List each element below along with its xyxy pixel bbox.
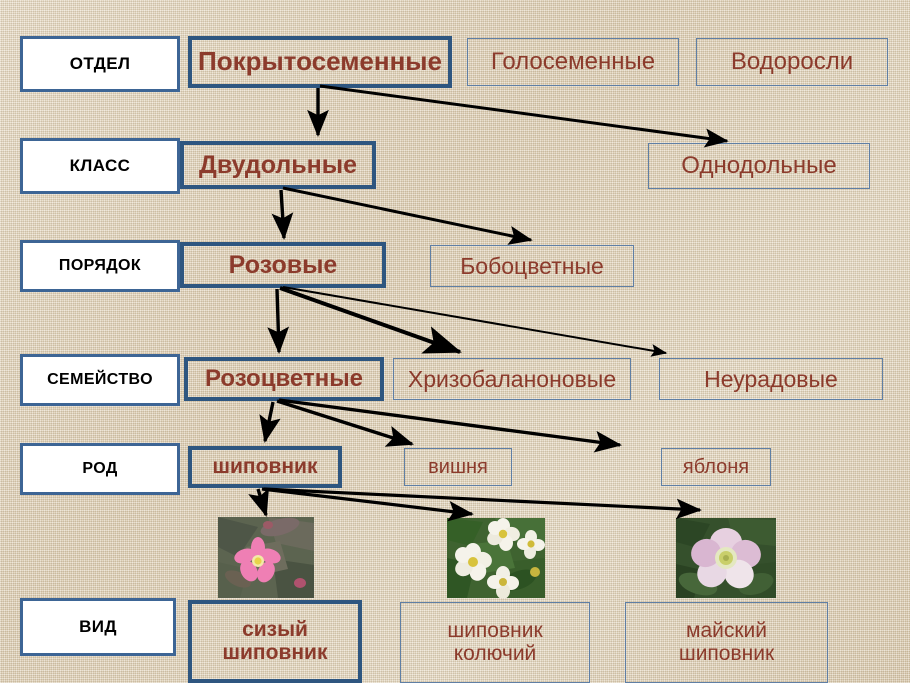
rank-label-text: КЛАСС: [70, 156, 131, 176]
arrow-shipovnik-to-kolyuchiy: [262, 489, 472, 514]
arrow-rozovye-to-rozocvetnye: [277, 289, 279, 352]
taxon-label: яблоня: [683, 457, 749, 478]
taxon-yablonya[interactable]: яблоня: [661, 448, 771, 486]
taxonomy-diagram: ОТДЕЛ КЛАСС ПОРЯДОК СЕМЕЙСТВО РОД ВИД По…: [0, 0, 910, 683]
photo-shipovnik-kolyuchiy: [447, 518, 545, 598]
taxon-label: Бобоцветные: [460, 254, 604, 278]
arrow-shipovnik-to-sizyy: [258, 489, 266, 515]
photo-image: [218, 517, 314, 598]
photo-sizyy-shipovnik: [218, 517, 314, 598]
rank-label-text: РОД: [82, 460, 117, 478]
taxon-pokrytosemennye[interactable]: Покрытосеменные: [188, 36, 452, 88]
taxon-odnodolnye[interactable]: Однодольные: [648, 143, 870, 189]
taxon-golosemennye[interactable]: Голосеменные: [467, 38, 679, 86]
taxon-label: Неурадовые: [704, 367, 838, 391]
taxon-label: Хризобаланоновые: [408, 367, 616, 391]
arrow-shipovnik-to-mayskiy: [264, 489, 700, 510]
arrow-rozocvetnye-to-yablonya: [279, 400, 620, 445]
rank-label-semeystvo: СЕМЕЙСТВО: [20, 354, 180, 406]
taxon-label: Голосеменные: [491, 49, 655, 74]
rank-label-rod: РОД: [20, 443, 180, 495]
arrow-rozocvetnye-to-vishnya: [277, 401, 412, 444]
arrow-rozocvetnye-to-shipovnik: [265, 402, 273, 441]
taxon-label: Водоросли: [731, 49, 853, 74]
taxon-neuradovye[interactable]: Неурадовые: [659, 358, 883, 400]
rank-label-text: СЕМЕЙСТВО: [47, 371, 153, 389]
taxon-label-line1: майский: [686, 620, 767, 642]
taxon-label: вишня: [428, 457, 488, 478]
taxon-label: Однодольные: [681, 153, 836, 178]
taxon-rozocvetnye[interactable]: Розоцветные: [184, 357, 384, 401]
arrow-dvudolnye-to-bobocvetnye: [283, 188, 531, 240]
taxon-shipovnik[interactable]: шиповник: [188, 446, 342, 488]
photo-image: [676, 518, 776, 598]
taxon-label-line1: сизый: [242, 619, 308, 641]
taxon-rozovye[interactable]: Розовые: [180, 242, 386, 288]
taxon-dvudolnye[interactable]: Двудольные: [180, 141, 376, 189]
taxon-label: Двудольные: [199, 152, 357, 178]
taxon-label: Розовые: [229, 252, 338, 278]
taxon-label-line2: колючий: [454, 643, 537, 665]
rank-label-text: ВИД: [79, 617, 117, 637]
taxon-label-line2: шиповник: [223, 642, 328, 664]
taxon-label-line2: шиповник: [679, 643, 774, 665]
photo-mayskiy-shipovnik: [676, 518, 776, 598]
arrow-pokrytosemennye-to-odnodolnye: [320, 86, 727, 141]
arrow-rozovye-to-hrizobalanovye: [280, 288, 460, 352]
taxon-vid-mayskiy-shipovnik[interactable]: майский шиповник: [625, 602, 828, 683]
taxon-hrizobalanovye[interactable]: Хризобаланоновые: [393, 358, 631, 400]
rank-label-otdel: ОТДЕЛ: [20, 36, 180, 92]
arrow-dvudolnye-to-rozovye: [281, 190, 284, 238]
taxon-label: шиповник: [213, 456, 318, 478]
rank-label-text: ОТДЕЛ: [70, 54, 131, 74]
arrow-rozovye-to-neuradovye: [283, 287, 666, 353]
rank-label-poryadok: ПОРЯДОК: [20, 240, 180, 292]
rank-label-text: ПОРЯДОК: [59, 257, 141, 275]
photo-image: [447, 518, 545, 598]
taxon-vid-shipovnik-kolyuchiy[interactable]: шиповник колючий: [400, 602, 590, 683]
taxon-bobocvetnye[interactable]: Бобоцветные: [430, 245, 634, 287]
taxon-label-line1: шиповник: [447, 620, 542, 642]
rank-label-vid: ВИД: [20, 598, 176, 656]
taxon-label: Покрытосеменные: [198, 48, 442, 75]
rank-label-klass: КЛАСС: [20, 138, 180, 194]
taxon-vishnya[interactable]: вишня: [404, 448, 512, 486]
taxon-vid-sizyy-shipovnik[interactable]: сизый шиповник: [188, 600, 362, 683]
taxon-vodorosli[interactable]: Водоросли: [696, 38, 888, 86]
taxon-label: Розоцветные: [205, 366, 363, 391]
